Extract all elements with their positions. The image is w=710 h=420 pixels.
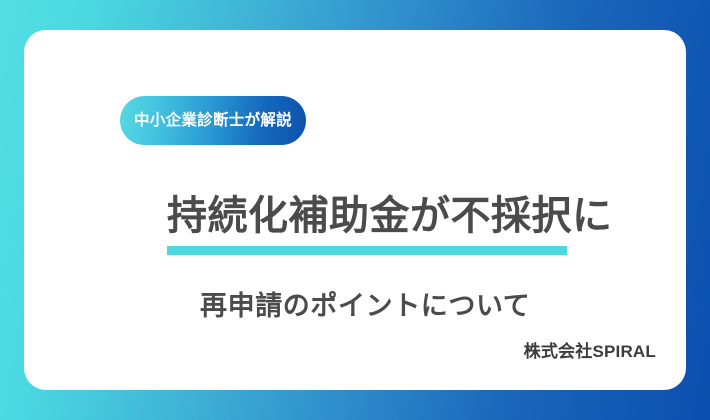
content-card: 中小企業診断士が解説 持続化補助金が不採択に 再申請のポイントについて 株式会社… xyxy=(24,30,686,390)
page-title: 持続化補助金が不採択に xyxy=(167,193,567,240)
page-subtitle: 再申請のポイントについて xyxy=(200,290,530,322)
headline-block: 持続化補助金が不採択に xyxy=(167,193,567,240)
company-name: 株式会社SPIRAL xyxy=(524,337,656,362)
headline-underline-bar xyxy=(167,246,567,255)
thumbnail-canvas: 中小企業診断士が解説 持続化補助金が不採択に 再申請のポイントについて 株式会社… xyxy=(0,0,710,420)
category-badge-label: 中小企業診断士が解説 xyxy=(134,113,292,129)
category-badge: 中小企業診断士が解説 xyxy=(120,96,306,145)
